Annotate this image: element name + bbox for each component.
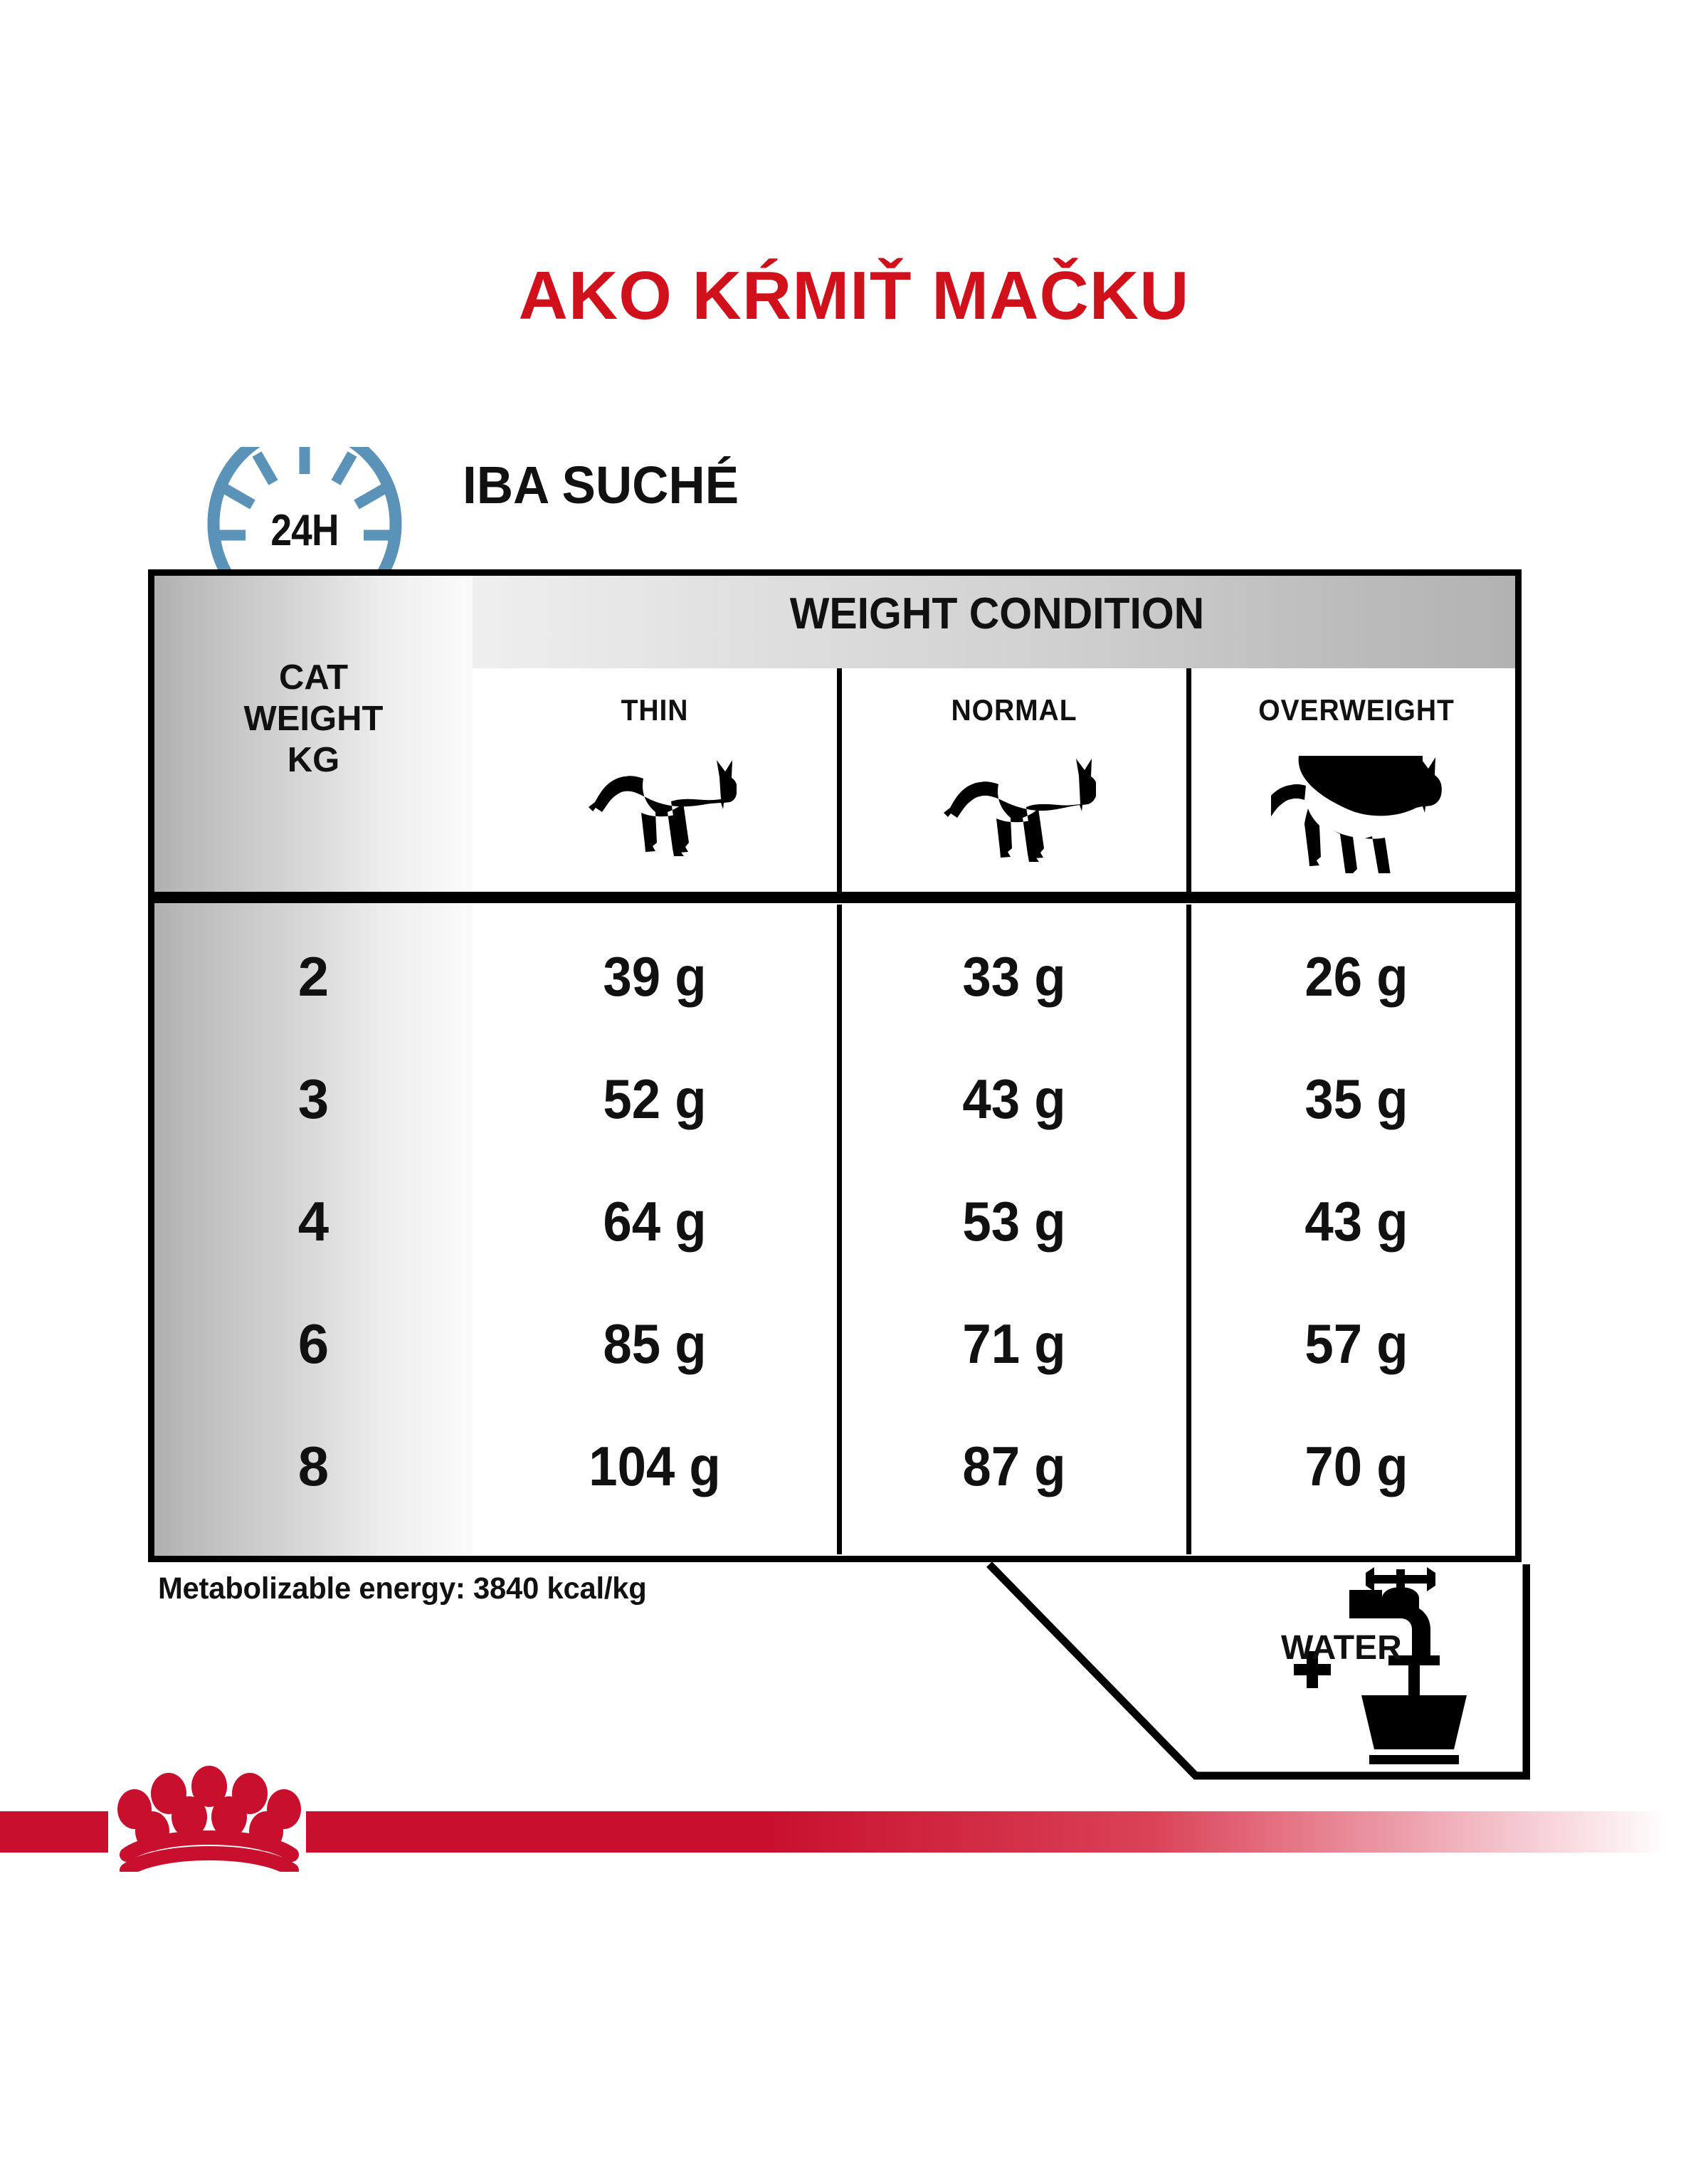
row-overweight: 57 g xyxy=(1203,1297,1510,1390)
row-weight: 3 xyxy=(154,1053,473,1145)
row-thin: 85 g xyxy=(485,1297,824,1390)
cat-thin-icon xyxy=(473,745,837,873)
row-overweight: 43 g xyxy=(1203,1175,1510,1268)
condition-header-normal: NORMAL xyxy=(854,693,1174,727)
row-normal: 43 g xyxy=(854,1053,1174,1145)
row-overweight: 35 g xyxy=(1203,1053,1510,1145)
row-weight: 4 xyxy=(154,1175,473,1268)
page-title: AKO KŔMIŤ MAČKU xyxy=(0,262,1708,330)
cat-normal-icon xyxy=(842,745,1186,873)
header-separator xyxy=(154,892,1515,903)
table-row: 6 85 g 71 g 57 g xyxy=(154,1297,1515,1390)
water-callout: WATER xyxy=(947,1551,1530,1786)
row-weight: 2 xyxy=(154,930,473,1023)
water-label: WATER xyxy=(1281,1628,1402,1668)
table-row: 8 104 g 87 g 70 g xyxy=(154,1420,1515,1512)
row-thin: 64 g xyxy=(485,1175,824,1268)
metabolizable-energy-note: Metabolizable energy: 3840 kcal/kg xyxy=(158,1571,647,1606)
row-overweight: 26 g xyxy=(1203,930,1510,1023)
clock-24h-icon: 24H xyxy=(201,447,408,582)
clock-badge-label: 24H xyxy=(216,505,393,556)
cat-overweight-icon xyxy=(1191,745,1522,873)
cat-weight-header-line-2: WEIGHT xyxy=(154,699,473,740)
row-normal: 71 g xyxy=(854,1297,1174,1390)
feeding-table: CAT WEIGHT KG WEIGHT CONDITION THIN NORM… xyxy=(148,569,1522,1562)
cat-weight-column-header: CAT WEIGHT KG xyxy=(154,658,473,781)
row-thin: 104 g xyxy=(485,1420,824,1512)
column-divider-2-header xyxy=(1186,668,1191,892)
royal-canin-crown-icon xyxy=(108,1758,311,1872)
row-weight: 8 xyxy=(154,1420,473,1512)
table-row: 3 52 g 43 g 35 g xyxy=(154,1053,1515,1145)
weight-condition-header: WEIGHT CONDITION xyxy=(499,589,1495,639)
brand-bar-left xyxy=(0,1811,108,1853)
condition-header-overweight: OVERWEIGHT xyxy=(1203,693,1510,727)
column-divider-1-header xyxy=(837,668,842,892)
feeding-mode-label: IBA SUCHÉ xyxy=(463,459,739,512)
row-thin: 39 g xyxy=(485,930,824,1023)
table-row: 4 64 g 53 g 43 g xyxy=(154,1175,1515,1268)
row-overweight: 70 g xyxy=(1203,1420,1510,1512)
condition-header-thin: THIN xyxy=(485,693,824,727)
row-normal: 87 g xyxy=(854,1420,1174,1512)
cat-weight-header-line-1: CAT xyxy=(154,658,473,699)
brand-bar-right xyxy=(306,1811,1669,1853)
row-weight: 6 xyxy=(154,1297,473,1390)
cat-weight-header-line-3: KG xyxy=(154,740,473,781)
row-thin: 52 g xyxy=(485,1053,824,1145)
row-normal: 53 g xyxy=(854,1175,1174,1268)
row-normal: 33 g xyxy=(854,930,1174,1023)
table-row: 2 39 g 33 g 26 g xyxy=(154,930,1515,1023)
